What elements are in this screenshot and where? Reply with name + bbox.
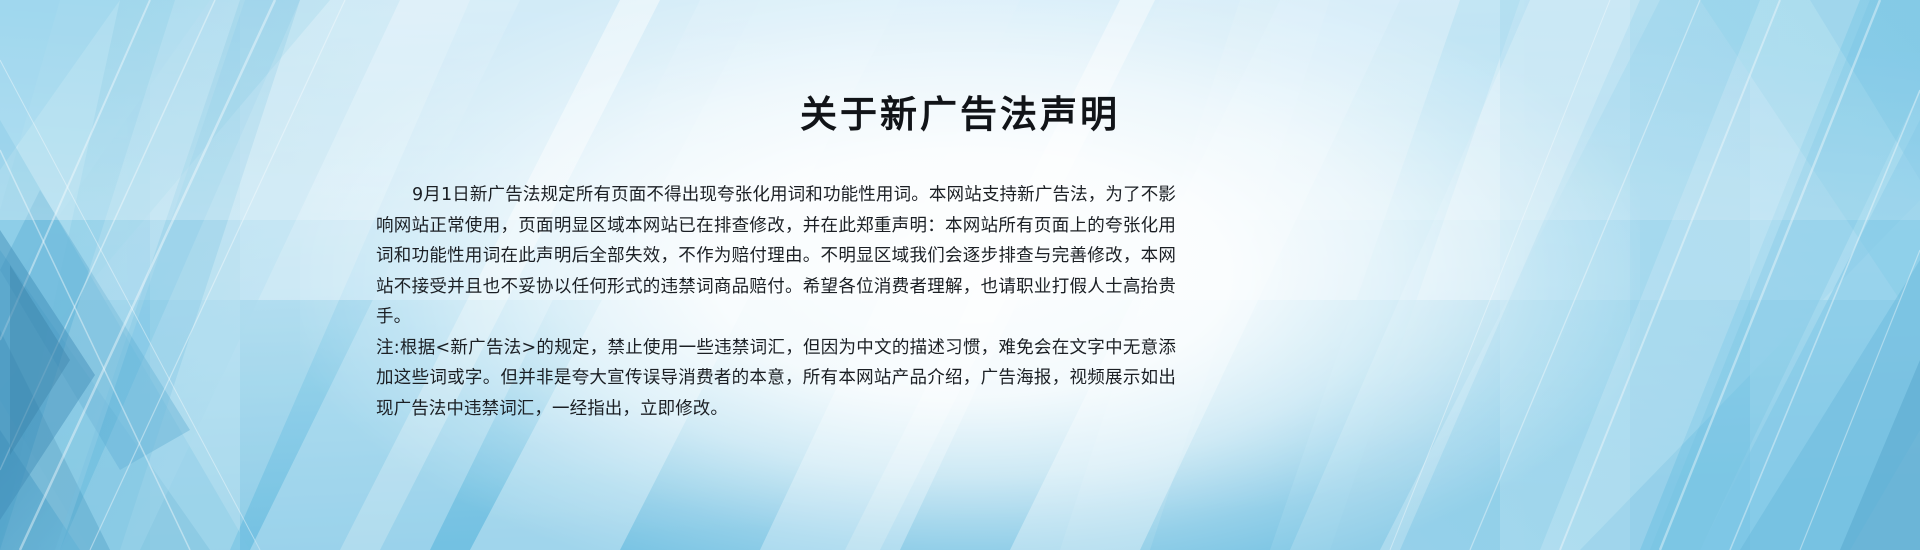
statement-paragraph-1: 9月1日新广告法规定所有页面不得出现夸张化用词和功能性用词。本网站支持新广告法，… (376, 180, 1176, 333)
statement-body: 9月1日新广告法规定所有页面不得出现夸张化用词和功能性用词。本网站支持新广告法，… (376, 180, 1176, 424)
page-title: 关于新广告法声明 (0, 84, 1920, 138)
advertising-law-statement-banner: 关于新广告法声明 9月1日新广告法规定所有页面不得出现夸张化用词和功能性用词。本… (0, 0, 1920, 550)
statement-paragraph-2: 注:根据<新广告法>的规定，禁止使用一些违禁词汇，但因为中文的描述习惯，难免会在… (376, 333, 1176, 425)
statement-content: 关于新广告法声明 9月1日新广告法规定所有页面不得出现夸张化用词和功能性用词。本… (0, 0, 1920, 550)
